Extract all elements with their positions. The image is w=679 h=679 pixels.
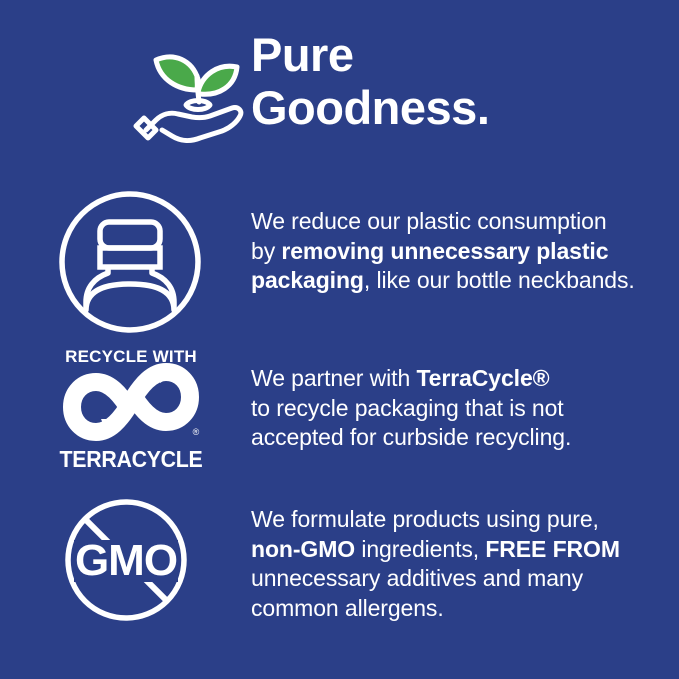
no-gmo-circle-icon: GMO xyxy=(56,498,204,646)
text-line-3: packaging, like our bottle neckbands. xyxy=(251,266,666,296)
benefit-text-non-gmo: We formulate products using pure,non-GMO… xyxy=(251,505,666,623)
hand-holding-seedling-icon xyxy=(140,30,252,142)
gmo-label: GMO xyxy=(75,536,177,585)
text-line-3: accepted for curbside recycling. xyxy=(251,423,666,453)
title-line-1: Pure xyxy=(251,28,651,81)
text-line-4: common allergens. xyxy=(251,594,666,624)
terracycle-logo-icon: RECYCLE WITH ® TERRACYCLE xyxy=(57,345,205,473)
text-line-1: We formulate products using pure, xyxy=(251,505,666,535)
text-line-1: We reduce our plastic consumption xyxy=(251,207,666,237)
text-line-2: by removing unnecessary plastic xyxy=(251,237,666,267)
registered-mark: ® xyxy=(193,427,200,437)
benefit-text-plastic-reduction: We reduce our plastic consumptionby remo… xyxy=(251,207,666,296)
benefit-text-terracycle: We partner with TerraCycle®to recycle pa… xyxy=(251,364,666,453)
text-line-2: non-GMO ingredients, FREE FROM xyxy=(251,535,666,565)
text-line-2: to recycle packaging that is not xyxy=(251,394,666,424)
bottle-neckband-circle-icon xyxy=(56,188,204,336)
page-title: Pure Goodness. xyxy=(251,28,651,134)
text-line-1: We partner with TerraCycle® xyxy=(251,364,666,394)
title-line-2: Goodness. xyxy=(251,81,651,134)
infinity-loop-arrows-icon xyxy=(72,365,190,438)
terracycle-top-label: RECYCLE WITH xyxy=(65,347,197,366)
pure-goodness-infographic: Pure Goodness. We reduce our plastic con… xyxy=(0,0,679,679)
header: Pure Goodness. xyxy=(0,0,679,175)
terracycle-bottom-label: TERRACYCLE xyxy=(60,446,203,472)
text-line-3: unnecessary additives and many xyxy=(251,564,666,594)
